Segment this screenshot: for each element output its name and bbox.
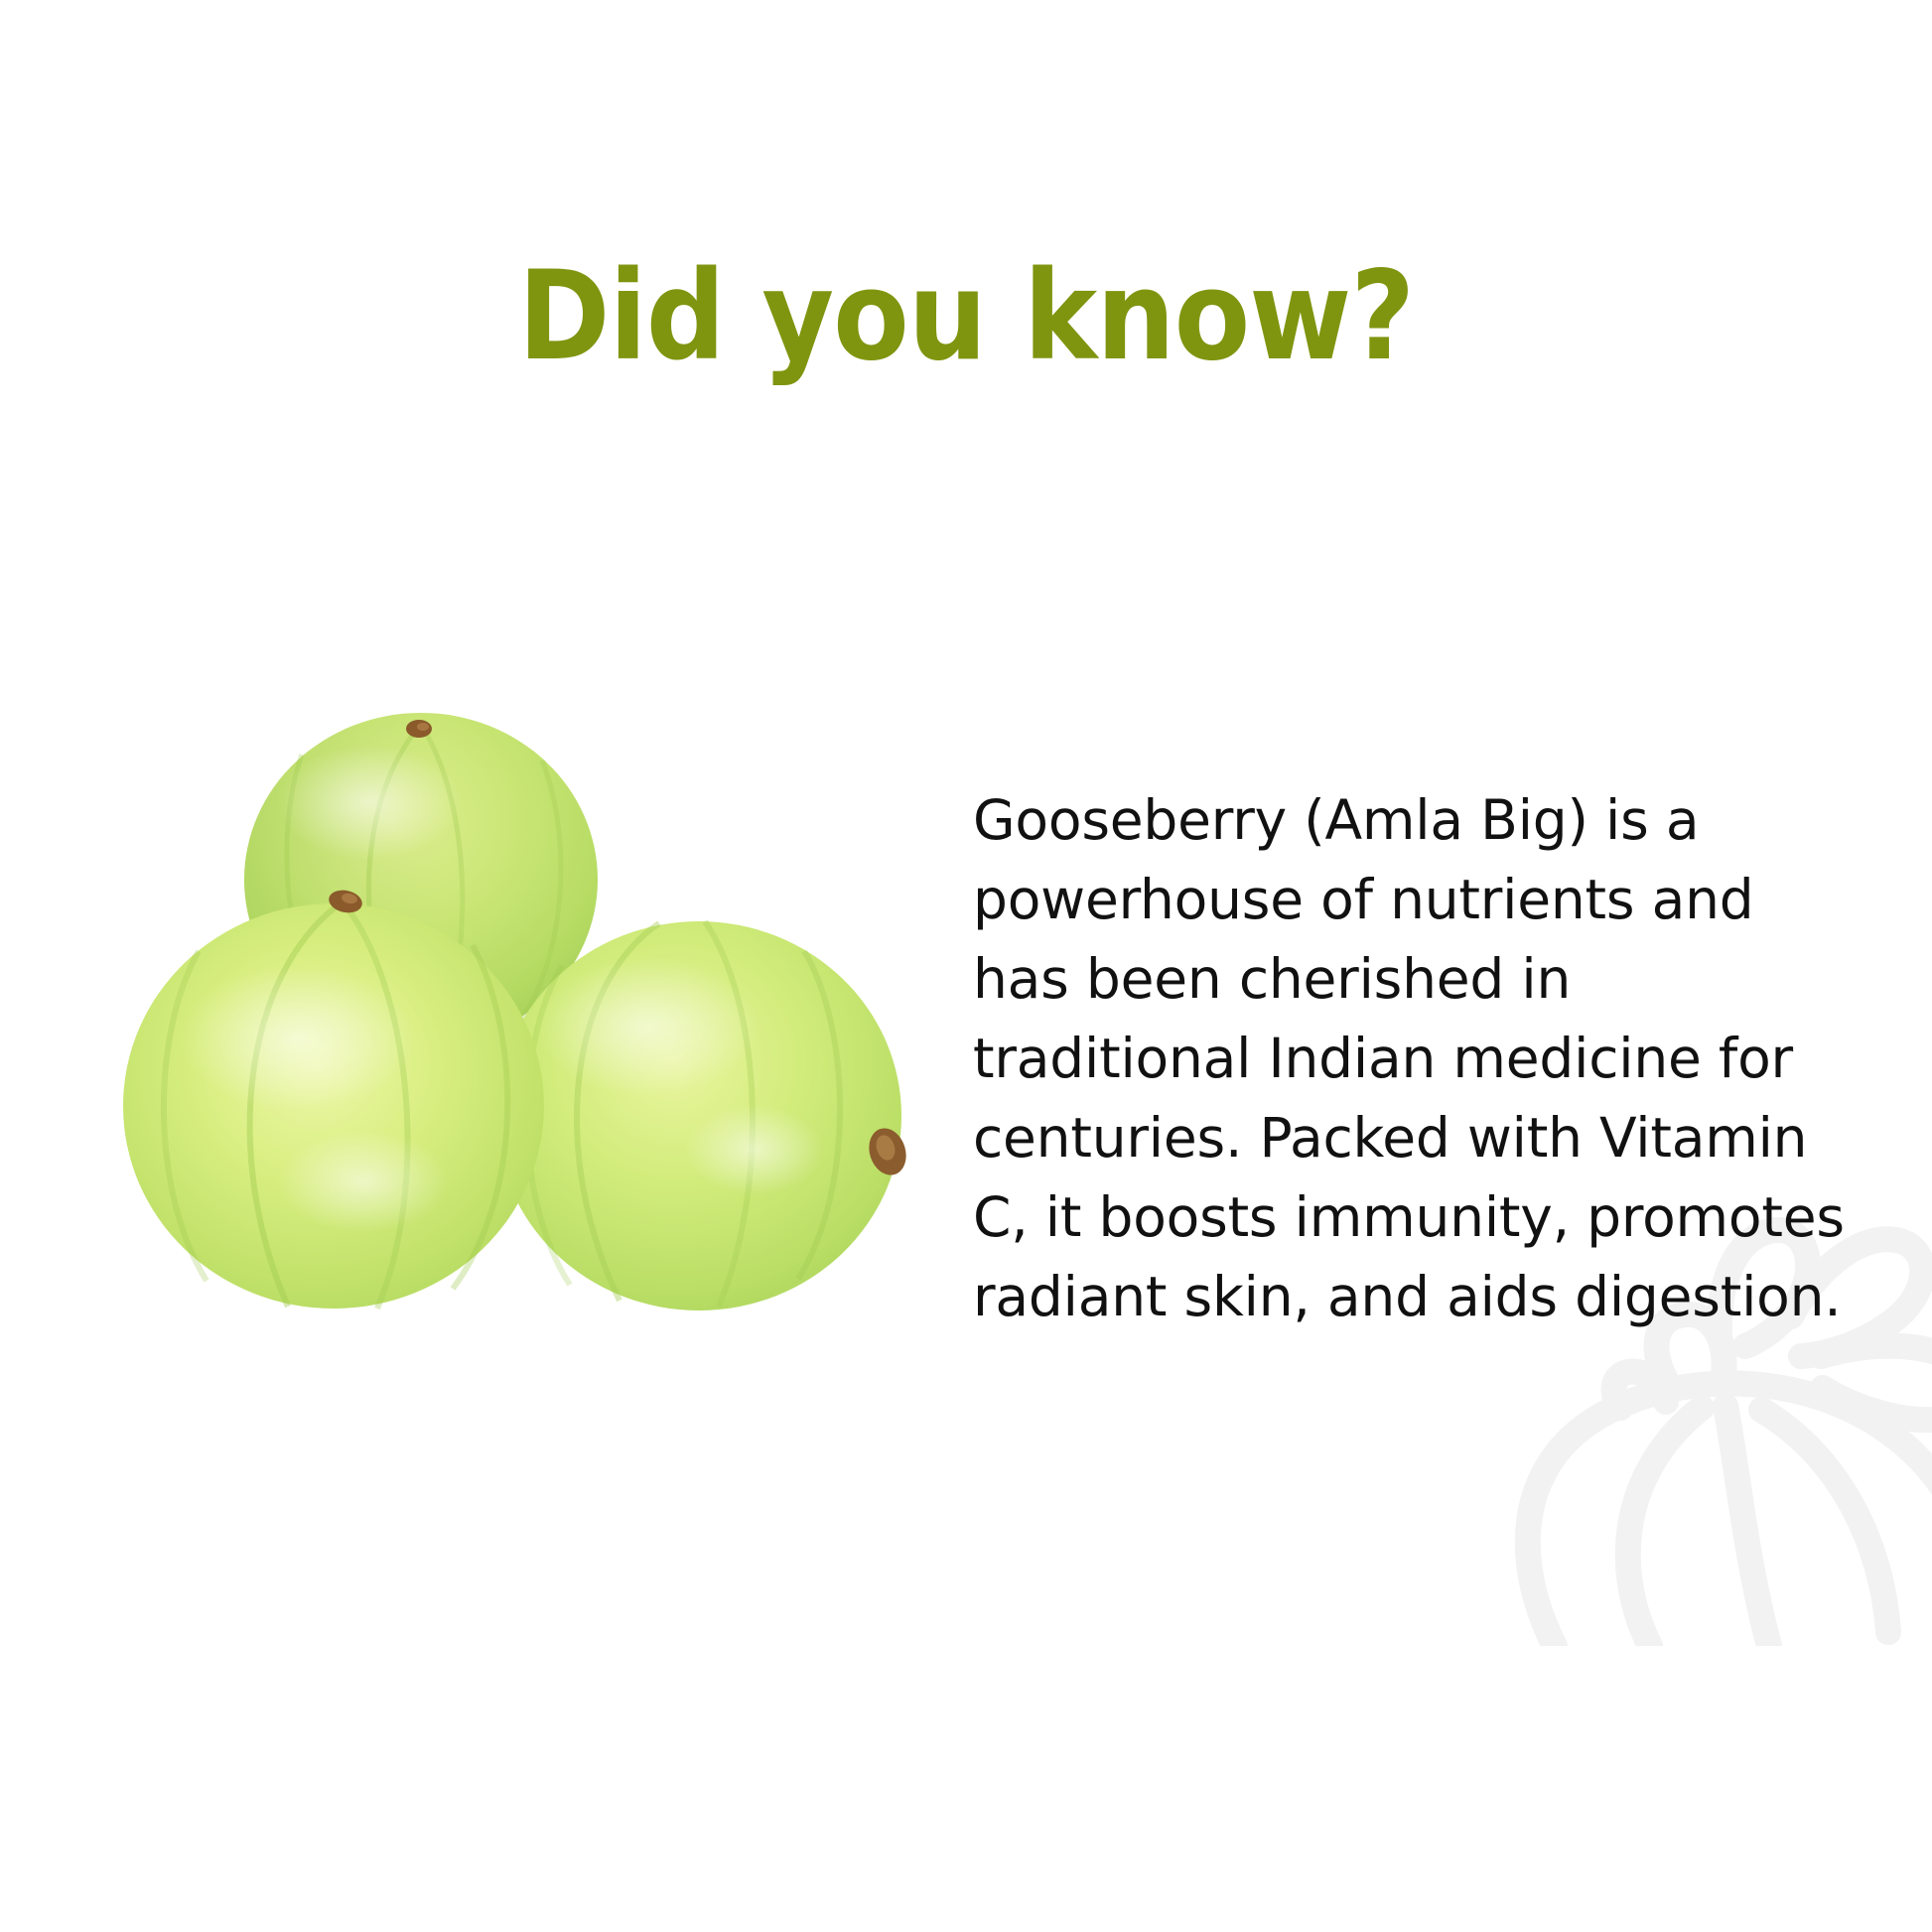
body-paragraph: Gooseberry (Amla Big) is a powerhouse of… xyxy=(973,780,1847,1336)
gooseberry-right xyxy=(496,921,912,1311)
gooseberry-amla-photo xyxy=(103,685,917,1440)
stem-nub-back xyxy=(406,720,432,738)
page-title: Did you know? xyxy=(0,251,1932,384)
info-card: Did you know? xyxy=(0,0,1932,1932)
